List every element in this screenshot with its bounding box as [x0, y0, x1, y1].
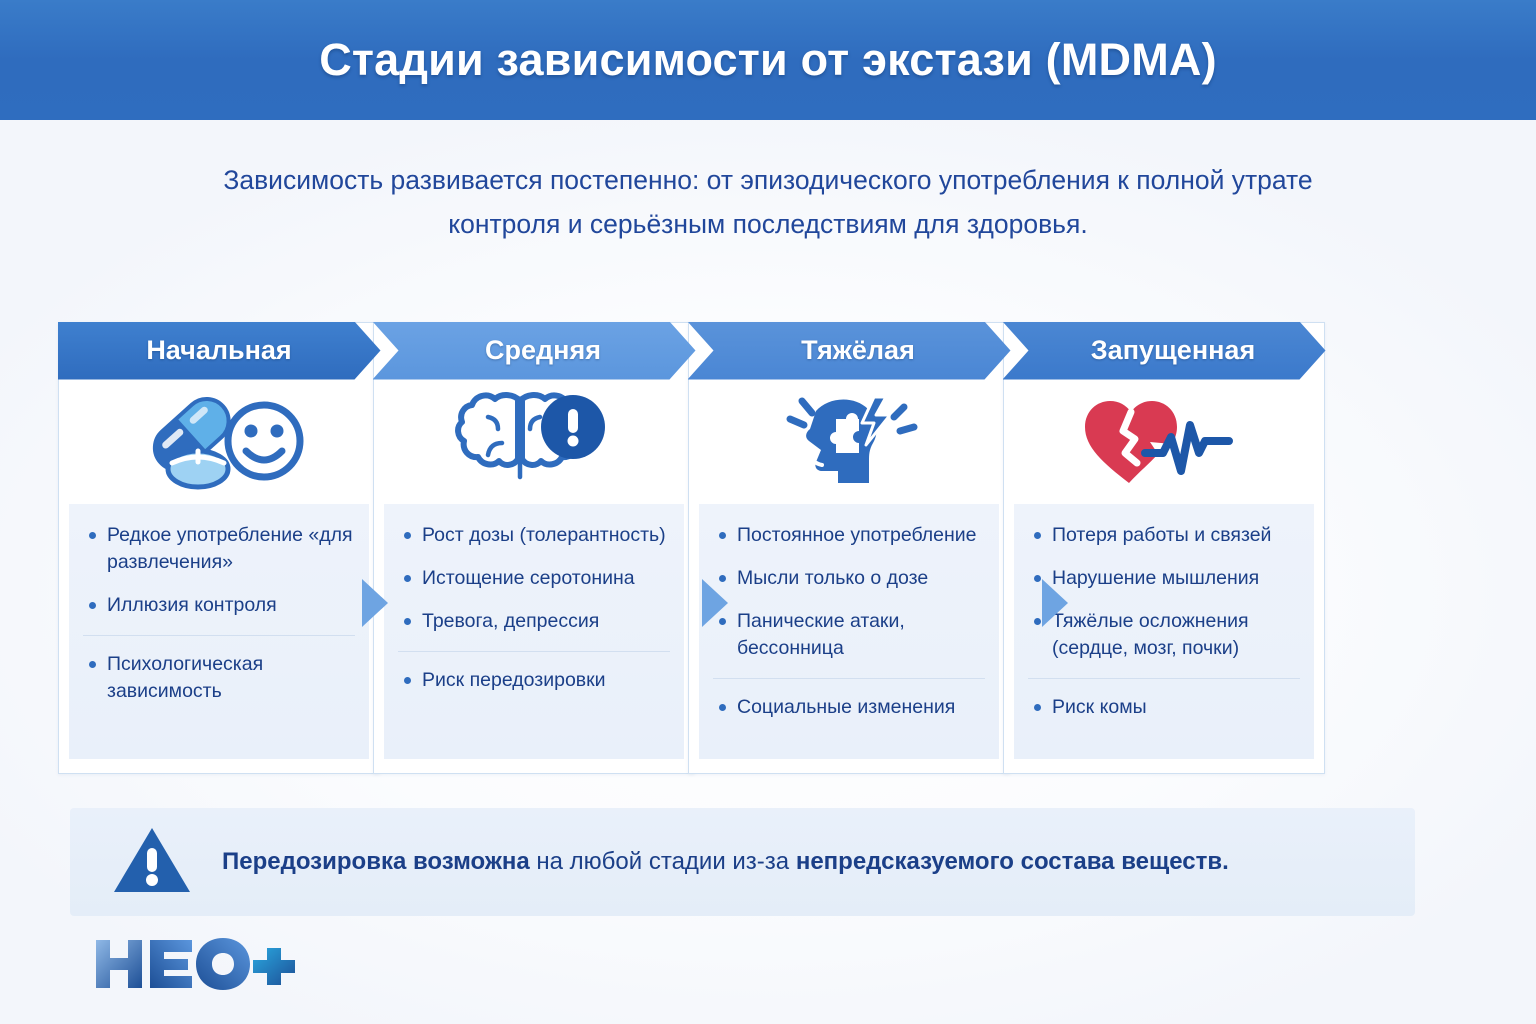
list-item: Постоянное употребление: [713, 522, 985, 549]
list-item: Риск комы: [1028, 678, 1300, 721]
stage-label-srednyaya: Средняя: [485, 335, 601, 366]
stage-header-nachalnaya[interactable]: Начальная: [58, 322, 381, 380]
list-item: Тревога, депрессия: [398, 608, 670, 635]
warning-text: Передозировка возможна на любой стадии и…: [222, 847, 1229, 877]
stage-header-zapushchennaya[interactable]: Запущенная: [1003, 322, 1326, 380]
brain-alert-icon: [374, 380, 694, 498]
list-item: Мысли только о дозе: [713, 565, 985, 592]
list-item: Панические атаки, бессонница: [713, 608, 985, 662]
warning-banner: Передозировка возможна на любой стадии и…: [70, 808, 1415, 916]
subtitle: Зависимость развивается постепенно: от э…: [178, 158, 1358, 246]
warning-normal-mid: на любой стадии из-за: [530, 848, 796, 875]
warning-bold-end: непредсказуемого состава веществ.: [796, 848, 1229, 875]
list-item: Психологическая зависимость: [83, 635, 355, 705]
list-item: Истощение серотонина: [398, 565, 670, 592]
items-srednyaya: Рост дозы (толерантность) Истощение серо…: [398, 522, 670, 694]
list-item: Нарушение мышления: [1028, 565, 1300, 592]
stage-list-srednyaya: Рост дозы (толерантность) Истощение серо…: [384, 504, 684, 760]
list-item: Потеря работы и связей: [1028, 522, 1300, 549]
items-tyazhelaya: Постоянное употребление Мысли только о д…: [713, 522, 985, 721]
warning-bold-start: Передозировка возможна: [222, 848, 530, 875]
stage-header-srednyaya[interactable]: Средняя: [373, 322, 696, 380]
stage-label-nachalnaya: Начальная: [146, 335, 291, 366]
stage-card-zapushchennaya[interactable]: Запущенная Потеря работы и связей Наруше…: [1003, 322, 1325, 774]
stage-card-tyazhelaya[interactable]: Тяжёлая: [688, 322, 1010, 774]
list-item: Рост дозы (толерантность): [398, 522, 670, 549]
stages-row: Начальная: [58, 322, 1421, 774]
stage-label-zapushchennaya: Запущенная: [1091, 335, 1255, 366]
title-bar: Стадии зависимости от экстази (MDMA): [0, 0, 1536, 120]
page-title: Стадии зависимости от экстази (MDMA): [319, 34, 1217, 86]
stage-header-tyazhelaya[interactable]: Тяжёлая: [688, 322, 1011, 380]
broken-heart-ecg-icon: [1004, 380, 1324, 498]
items-nachalnaya: Редкое употребление «для развлечения» Ил…: [83, 522, 355, 705]
stage-list-zapushchennaya: Потеря работы и связей Нарушение мышлени…: [1014, 504, 1314, 760]
logo-neo-plus[interactable]: [92, 936, 302, 992]
list-item: Риск передозировки: [398, 651, 670, 694]
stage-list-nachalnaya: Редкое употребление «для развлечения» Ил…: [69, 504, 369, 760]
items-zapushchennaya: Потеря работы и связей Нарушение мышлени…: [1028, 522, 1300, 721]
subtitle-line-2: контроля и серьёзным последствиям для зд…: [178, 202, 1358, 246]
warning-triangle-icon: [112, 824, 192, 901]
list-item: Редкое употребление «для развлечения»: [83, 522, 355, 576]
head-puzzle-lightning-icon: [689, 380, 1009, 498]
infographic-root: Стадии зависимости от экстази (MDMA) Зав…: [0, 0, 1536, 1024]
list-item: Тяжёлые осложнения (сердце, мозг, почки): [1028, 608, 1300, 662]
stage-card-srednyaya[interactable]: Средняя Рост дозы (толерантность): [373, 322, 695, 774]
list-item: Иллюзия контроля: [83, 592, 355, 619]
list-item: Социальные изменения: [713, 678, 985, 721]
stage-label-tyazhelaya: Тяжёлая: [801, 335, 915, 366]
stage-card-nachalnaya[interactable]: Начальная: [58, 322, 380, 774]
stage-list-tyazhelaya: Постоянное употребление Мысли только о д…: [699, 504, 999, 760]
subtitle-line-1: Зависимость развивается постепенно: от э…: [178, 158, 1358, 202]
pills-smiley-icon: [59, 380, 379, 498]
